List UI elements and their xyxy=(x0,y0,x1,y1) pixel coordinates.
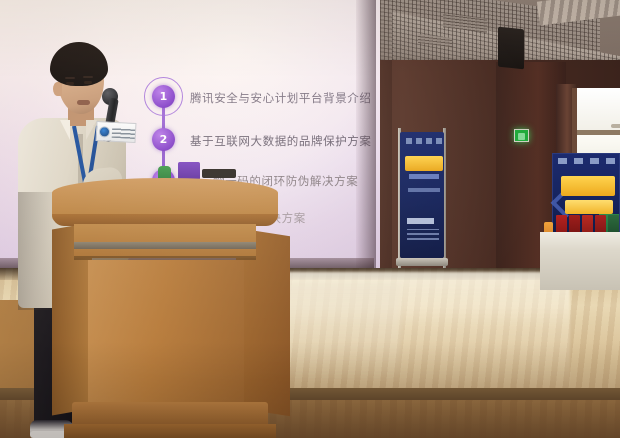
exit-sign-icon xyxy=(514,129,529,142)
microphone-flag-text xyxy=(112,128,135,139)
presenter-eyebrow-left xyxy=(65,77,75,79)
podium-plinth xyxy=(64,424,276,438)
presenter-eyebrow-right xyxy=(83,76,93,78)
presenter-eye-right xyxy=(84,81,92,84)
banner-base xyxy=(396,258,448,266)
presenter-ear xyxy=(53,82,62,96)
presenter-hair xyxy=(50,42,108,86)
presenter-mouth xyxy=(77,100,90,105)
podium-body xyxy=(88,260,244,410)
exhibit-table xyxy=(540,232,620,290)
podium-object-dark xyxy=(202,169,236,178)
microphone-flag xyxy=(96,121,137,143)
wall-speaker-box xyxy=(498,27,524,70)
banner-subtitle-block xyxy=(409,174,439,179)
banner-subtitle-block-2 xyxy=(408,188,440,192)
podium-mid-band xyxy=(74,224,256,258)
banner-logo-row xyxy=(406,138,442,144)
podium-accent-stripe xyxy=(74,242,256,249)
timeline-node-1: 1 xyxy=(152,85,175,108)
slide-agenda-item-2: 基于互联网大数据的品牌保护方案 xyxy=(190,133,372,149)
screen-right-edge xyxy=(356,0,376,272)
presenter-eye-left xyxy=(66,82,74,85)
poster-logo-row xyxy=(558,158,616,164)
banner-face xyxy=(400,132,444,258)
podium xyxy=(50,170,280,438)
rollup-banner xyxy=(398,132,446,266)
banner-meta-block xyxy=(407,229,439,240)
poster-title-block xyxy=(561,176,615,196)
presenter-collar-left xyxy=(60,120,70,140)
slide-agenda-item-1: 腾讯安全与安心计划平台背景介绍 xyxy=(190,90,372,106)
presentation-scene-photo: 1 2 3 腾讯安全与安心计划平台背景介绍 基于互联网大数据的品牌保护方案 一物… xyxy=(0,0,620,438)
banner-title-block xyxy=(405,156,443,171)
poster-subtitle-block xyxy=(565,200,613,214)
timeline-node-2: 2 xyxy=(152,128,175,151)
banner-datetime-block xyxy=(407,218,434,224)
microphone-flag-logo-icon xyxy=(99,126,111,138)
window-handle[interactable] xyxy=(611,124,620,128)
